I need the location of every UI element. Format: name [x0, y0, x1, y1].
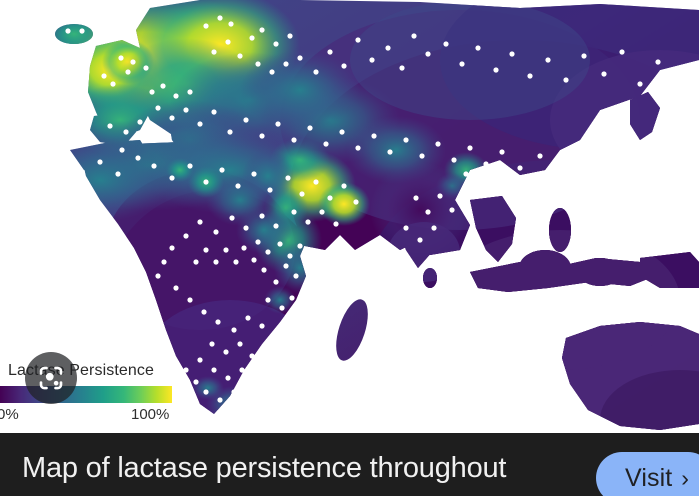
map-image[interactable]: Lactase Persistence 0% 100% [0, 0, 699, 433]
legend-max-label: 100% [131, 406, 169, 423]
image-result-bar: Map of lactase persistence throughout [0, 433, 699, 496]
image-result-title: Map of lactase persistence throughout [22, 450, 582, 486]
google-lens-button[interactable] [25, 352, 77, 404]
legend-min-label: 0% [0, 406, 19, 423]
image-viewer: Lactase Persistence 0% 100% Map of lacta… [0, 0, 699, 496]
legend-colorbar [0, 386, 172, 403]
google-lens-icon [36, 363, 66, 393]
visit-button[interactable]: Visit › [596, 452, 699, 496]
visit-button-label: Visit [625, 464, 672, 493]
chevron-right-icon: › [681, 467, 689, 490]
